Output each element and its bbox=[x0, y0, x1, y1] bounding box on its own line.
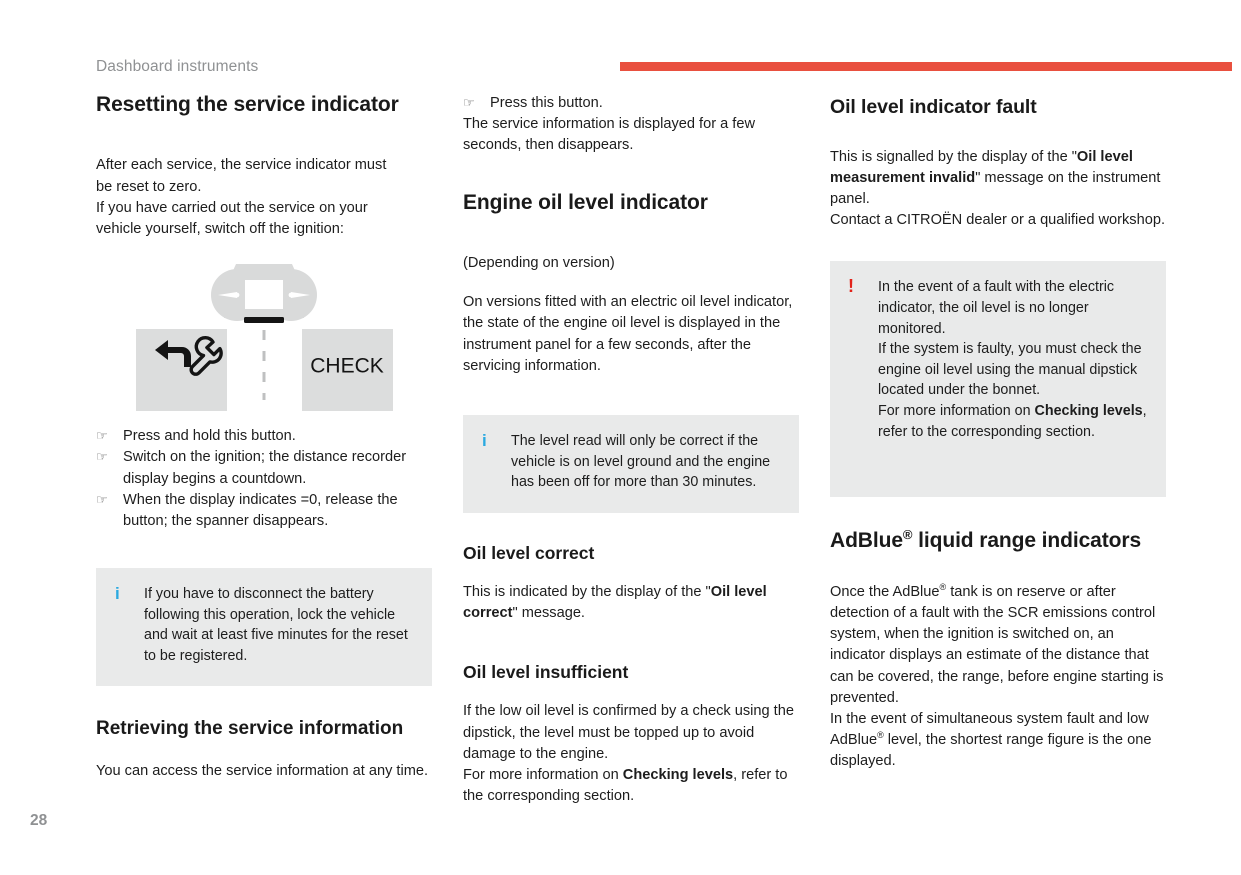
hand-pointer-icon: ☞ bbox=[96, 425, 108, 446]
paragraph-checking-levels-ref: For more information on Checking levels,… bbox=[463, 765, 799, 807]
reset-steps-list: ☞Press and hold this button. ☞Switch on … bbox=[96, 426, 432, 532]
paragraph-electric-oil-indicator: On versions fitted with an electric oil … bbox=[463, 292, 799, 377]
line: If you have carried out the service on y… bbox=[96, 200, 368, 216]
text-part: Once the AdBlue bbox=[830, 584, 940, 600]
list-item: ☞Press and hold this button. bbox=[96, 426, 432, 447]
warning-icon: ! bbox=[848, 277, 854, 295]
info-icon: i bbox=[115, 585, 122, 603]
line: vehicle yourself, switch off the ignitio… bbox=[96, 221, 344, 237]
heading-retrieving-service-information: Retrieving the service information bbox=[96, 718, 432, 741]
paragraph-service-display: The service information is displayed for… bbox=[463, 114, 799, 156]
heading-text: liquid range indicators bbox=[912, 529, 1141, 552]
callout-text-2: If the system is faulty, you must check … bbox=[878, 339, 1148, 401]
info-callout-battery: i If you have to disconnect the battery … bbox=[96, 568, 432, 686]
text-pre: For more information on bbox=[463, 767, 623, 783]
check-button-label: CHECK bbox=[310, 355, 384, 378]
heading-adblue-range-indicators: AdBlue® liquid range indicators bbox=[830, 529, 1166, 553]
cluster-shape bbox=[211, 264, 317, 323]
text-pre: This is indicated by the display of the … bbox=[463, 584, 711, 600]
paragraph-reset-intro: After each service, the service indicato… bbox=[96, 155, 432, 240]
paragraph-adblue-simultaneous-fault: In the event of simultaneous system faul… bbox=[830, 709, 1166, 773]
paragraph-adblue-reserve: Once the AdBlue® tank is on reserve or a… bbox=[830, 582, 1166, 709]
registered-trademark-icon: ® bbox=[877, 730, 884, 740]
check-button: CHECK bbox=[302, 329, 393, 411]
paragraph-contact-dealer: Contact a CITROËN dealer or a qualified … bbox=[830, 210, 1166, 231]
paragraph-service-access: You can access the service information a… bbox=[96, 761, 432, 782]
manual-page: Dashboard instruments Resetting the serv… bbox=[0, 0, 1241, 875]
heading-oil-level-insufficient: Oil level insufficient bbox=[463, 662, 799, 683]
paragraph-depending-on-version: (Depending on version) bbox=[463, 253, 799, 274]
list-item-text: Press and hold this button. bbox=[123, 428, 296, 444]
press-button-step: ☞Press this button. bbox=[463, 93, 799, 114]
text-post: " message. bbox=[512, 605, 585, 621]
callout-text: If you have to disconnect the battery fo… bbox=[144, 584, 414, 666]
page-title: Resetting the service indicator bbox=[96, 93, 432, 117]
list-item-text: Switch on the ignition; the distance rec… bbox=[123, 449, 406, 486]
column-left: Resetting the service indicator After ea… bbox=[96, 93, 432, 792]
info-callout-level-read: i The level read will only be correct if… bbox=[463, 415, 799, 513]
section-reference: Checking levels bbox=[1035, 403, 1143, 419]
list-item-text: When the display indicates =0, release t… bbox=[123, 492, 398, 529]
paragraph-fault-message: This is signalled by the display of the … bbox=[830, 147, 1166, 211]
text-pre: For more information on bbox=[878, 403, 1035, 419]
list-item: ☞When the display indicates =0, release … bbox=[96, 490, 432, 532]
hand-pointer-icon: ☞ bbox=[96, 446, 108, 467]
registered-trademark-icon: ® bbox=[903, 527, 913, 542]
heading-oil-level-correct: Oil level correct bbox=[463, 543, 799, 564]
heading-oil-level-indicator-fault: Oil level indicator fault bbox=[830, 96, 1166, 119]
header-rule bbox=[620, 62, 1232, 71]
callout-text-3: For more information on Checking levels,… bbox=[878, 401, 1148, 442]
hand-pointer-icon: ☞ bbox=[463, 92, 475, 113]
hand-pointer-icon: ☞ bbox=[96, 489, 108, 510]
step-text: Press this button. bbox=[490, 95, 603, 111]
column-middle: ☞Press this button. The service informat… bbox=[463, 93, 799, 817]
info-icon: i bbox=[482, 432, 489, 450]
paragraph-oil-level-correct: This is indicated by the display of the … bbox=[463, 582, 799, 624]
section-reference: Checking levels bbox=[623, 767, 733, 783]
reset-button bbox=[136, 329, 227, 411]
warning-callout-electric-fault: ! In the event of a fault with the elect… bbox=[830, 261, 1166, 497]
heading-text: AdBlue bbox=[830, 529, 903, 552]
paragraph-low-oil-level: If the low oil level is confirmed by a c… bbox=[463, 701, 799, 765]
text-pre: This is signalled by the display of the … bbox=[830, 149, 1077, 165]
running-head: Dashboard instruments bbox=[96, 58, 258, 76]
text-part: tank is on reserve or after detection of… bbox=[830, 584, 1163, 706]
callout-text: The level read will only be correct if t… bbox=[511, 431, 781, 493]
line: After each service, the service indicato… bbox=[96, 157, 386, 173]
list-item: ☞Switch on the ignition; the distance re… bbox=[96, 447, 432, 489]
heading-engine-oil-level-indicator: Engine oil level indicator bbox=[463, 191, 799, 215]
line: be reset to zero. bbox=[96, 179, 201, 195]
page-number: 28 bbox=[30, 812, 47, 830]
callout-text-1: In the event of a fault with the electri… bbox=[878, 277, 1148, 339]
instrument-cluster-illustration: CHECK bbox=[96, 262, 432, 412]
column-right: Oil level indicator fault This is signal… bbox=[830, 96, 1166, 783]
